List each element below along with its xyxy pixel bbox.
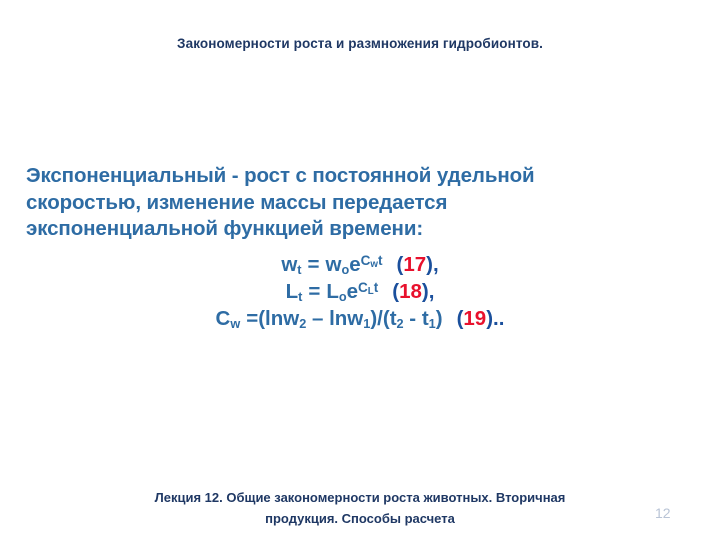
formula-lt-exponent: CLt	[358, 280, 378, 295]
formula-cw-sub-3: 2	[397, 316, 404, 331]
formula-cw-number: 19	[463, 307, 486, 330]
formula-lt-lhs-var: L	[286, 280, 299, 303]
formula-cw: Cw=(lnw2 – lnw1)/(t2 - t1)(19)..	[0, 305, 720, 332]
formula-wt-lhs-var: w	[281, 253, 297, 276]
formula-wt-equals: =	[308, 253, 320, 276]
body-line-2: скоростью, изменение массы передается	[26, 190, 694, 217]
formula-wt-exp-var: C	[361, 253, 371, 268]
formula-lt-paren-close: )	[422, 280, 429, 303]
formula-lt-exp-tail: t	[374, 280, 379, 295]
footer-line-1: Лекция 12. Общие закономерности роста жи…	[50, 487, 670, 508]
slide-canvas: Закономерности роста и размножения гидро…	[0, 0, 720, 540]
formula-wt-paren-close: )	[426, 253, 433, 276]
formula-wt-exp-base: e	[349, 253, 360, 276]
formula-lt-trailer: ,	[429, 280, 435, 303]
formula-cw-sub-4: 1	[429, 316, 436, 331]
formula-lt-lhs-sub: t	[298, 289, 302, 304]
formula-cw-expr-3: )/(t	[370, 307, 396, 330]
formula-lt-exp-base: e	[347, 280, 358, 303]
footer-line-2: продукция. Способы расчета	[50, 508, 670, 529]
formula-cw-expr-1: =(lnw	[246, 307, 299, 330]
formula-wt-rhs-var: w	[326, 253, 342, 276]
formula-cw-paren-close: )	[486, 307, 493, 330]
formula-lt-exp-var: C	[358, 280, 368, 295]
body-line-1: Экспоненциальный - рост с постоянной уде…	[26, 163, 694, 190]
page-number: 12	[655, 505, 689, 521]
formula-lt-number: 18	[399, 280, 422, 303]
formula-cw-lhs-var: C	[216, 307, 231, 330]
formula-cw-expr-4: - t	[404, 307, 429, 330]
formula-cw-trailer: ..	[493, 307, 504, 330]
formula-cw-lhs-sub: w	[230, 316, 240, 331]
formula-cw-expr-5: )	[436, 307, 443, 330]
slide-footer: Лекция 12. Общие закономерности роста жи…	[50, 487, 670, 529]
formula-lt-rhs-sub: o	[339, 289, 347, 304]
formula-wt-exp-tail: t	[378, 253, 383, 268]
formula-wt-exp-sub: w	[370, 258, 378, 269]
formula-wt: wt=woeCwt(17),	[0, 251, 720, 278]
body-text-block: Экспоненциальный - рост с постоянной уде…	[26, 163, 694, 243]
formula-wt-number: 17	[403, 253, 426, 276]
formula-wt-trailer: ,	[433, 253, 439, 276]
formula-lt-equals: =	[308, 280, 320, 303]
formula-block: wt=woeCwt(17), Lt=LoeCLt(18), Cw=(lnw2 –…	[0, 251, 720, 332]
formula-lt: Lt=LoeCLt(18),	[0, 278, 720, 305]
slide-title: Закономерности роста и размножения гидро…	[0, 36, 720, 52]
body-line-3: экспоненциальной функцией времени:	[26, 216, 694, 243]
formula-wt-lhs-sub: t	[297, 262, 301, 277]
formula-wt-exponent: Cwt	[361, 253, 383, 268]
formula-cw-expr-2: – lnw	[306, 307, 363, 330]
formula-lt-rhs-var: L	[326, 280, 339, 303]
